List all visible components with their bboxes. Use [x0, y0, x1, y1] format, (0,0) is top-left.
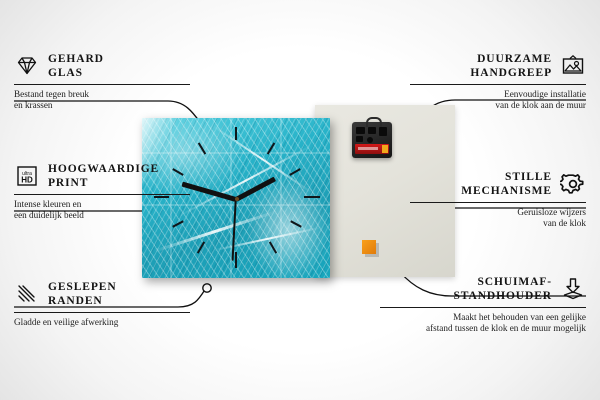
ultra-hd-badge-icon: ultra HD [14, 164, 40, 188]
feature-desc-line2: van de klok [543, 218, 586, 228]
gear-icon [560, 172, 586, 196]
divider [410, 84, 586, 85]
feature-title-line1: HOOGWAARDIGE [48, 163, 159, 175]
feature-title-line1: GESLEPEN [48, 281, 117, 293]
feature-title-line1: GEHARD [48, 53, 104, 65]
battery [355, 144, 389, 154]
feature-hoogwaardige-print: ultra HD HOOGWAARDIGE PRINT Intense kleu… [14, 162, 190, 222]
svg-text:HD: HD [21, 176, 33, 185]
infographic-canvas: GEHARD GLAS Bestand tegen breuk en krass… [0, 0, 600, 400]
feature-title-line2: PRINT [48, 177, 88, 189]
beveled-edges-icon [14, 282, 40, 306]
feature-desc-line1: Maakt het behouden van een gelijke [453, 312, 586, 322]
clock-hub [235, 197, 239, 201]
feature-stille-mechanisme: STILLE MECHANISME Geruisloze wijzers van… [410, 170, 586, 230]
feature-desc-line1: Bestand tegen breuk [14, 89, 89, 99]
foam-spacer-pad [362, 240, 376, 254]
feature-duurzame-handgreep: DUURZAME HANDGREEP Eenvoudige installati… [410, 52, 586, 112]
feature-schuimafstandhouder: SCHUIMAF- STANDHOUDER Maakt het behouden… [380, 275, 586, 335]
feature-title-line2: HANDGREEP [470, 67, 552, 79]
feature-gehard-glas: GEHARD GLAS Bestand tegen breuk en krass… [14, 52, 190, 112]
feature-desc-line1: Eenvoudige installatie [504, 89, 586, 99]
feature-desc-line1: Intense kleuren en [14, 199, 81, 209]
divider [410, 202, 586, 203]
hanging-hook-icon [366, 117, 382, 127]
picture-frame-icon [560, 54, 586, 78]
divider [14, 194, 190, 195]
feature-title-line1: DUURZAME [477, 53, 552, 65]
feature-desc-line1: Geruisloze wijzers [517, 207, 586, 217]
divider [14, 84, 190, 85]
down-arrow-platform-icon [560, 277, 586, 301]
feature-title-line1: SCHUIMAF- [477, 276, 552, 288]
feature-title-line2: GLAS [48, 67, 83, 79]
feature-desc-line2: een duidelijk beeld [14, 210, 84, 220]
feature-title-line1: STILLE [505, 171, 552, 183]
feature-desc-line2: en krassen [14, 100, 53, 110]
feature-desc-line2: van de klok aan de muur [495, 100, 586, 110]
feature-title-line2: MECHANISME [461, 185, 552, 197]
divider [380, 307, 586, 308]
feature-desc-line1: Gladde en veilige afwerking [14, 317, 118, 327]
feature-desc-line2: afstand tussen de klok en de muur mogeli… [426, 323, 586, 333]
divider [14, 312, 190, 313]
feature-title-line2: RANDEN [48, 295, 103, 307]
feature-geslepen-randen: GESLEPEN RANDEN Gladde en veilige afwerk… [14, 280, 190, 328]
clock-mechanism [352, 122, 392, 158]
feature-title-line2: STANDHOUDER [453, 290, 552, 302]
node-geslepen-randen [203, 284, 211, 292]
diamond-icon [14, 54, 40, 78]
